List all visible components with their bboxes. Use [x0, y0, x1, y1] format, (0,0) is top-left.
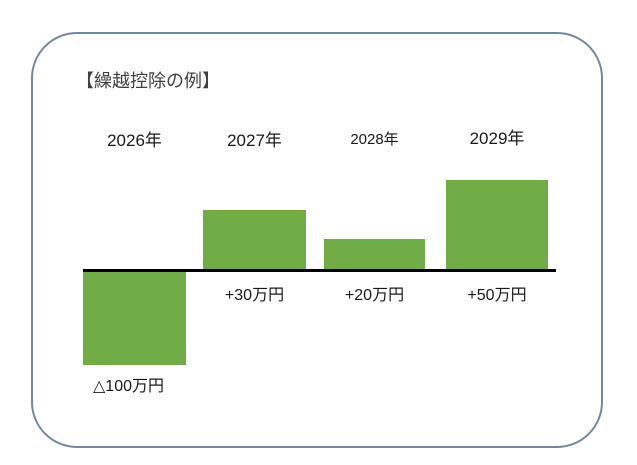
chart-plot-area: 【繰越控除の例】 2026年 2027年 2028年 2029年 △100万円 …	[0, 0, 637, 465]
page-title: 【繰越控除の例】	[76, 67, 220, 93]
value-label-2026: △100万円	[93, 372, 164, 396]
year-label-2026: 2026年	[83, 126, 186, 151]
bar-2026	[83, 272, 186, 365]
year-label-2028: 2028年	[324, 128, 425, 149]
bar-2029	[446, 180, 548, 269]
value-label-2029: +50万円	[446, 281, 548, 305]
year-label-2027: 2027年	[203, 126, 306, 151]
zero-axis-line	[83, 269, 556, 272]
year-label-2029: 2029年	[446, 124, 548, 149]
bar-2027	[203, 210, 306, 269]
value-label-2027: +30万円	[203, 281, 306, 305]
bar-2028	[324, 239, 425, 269]
value-label-2028: +20万円	[324, 281, 425, 305]
